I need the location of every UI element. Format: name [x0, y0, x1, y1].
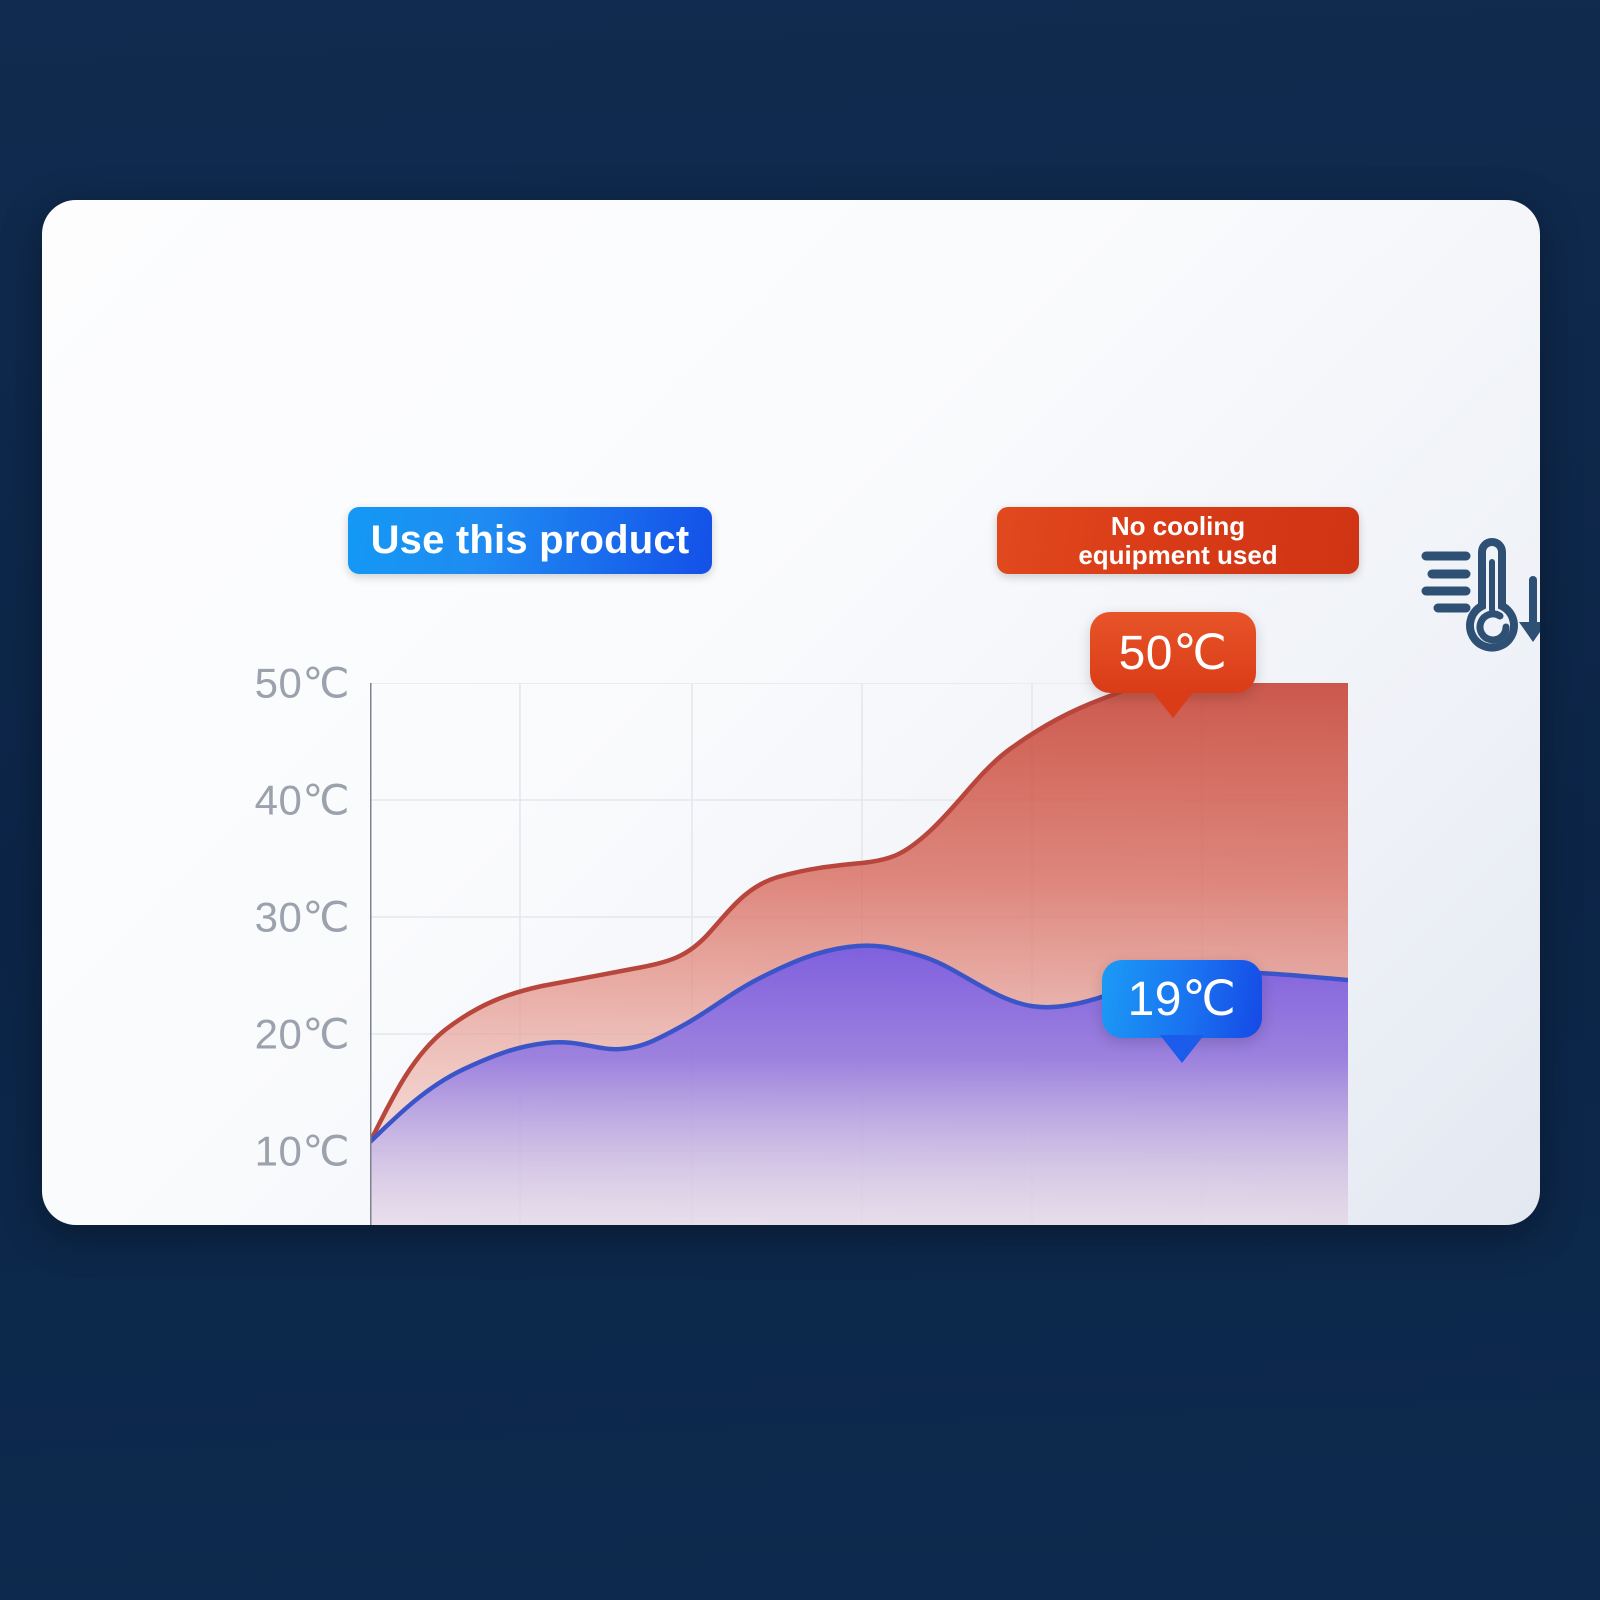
arrow-down-icon [1519, 580, 1540, 642]
screenshot-root: Use this product No cooling equipment us… [0, 0, 1600, 1600]
legend-pill-no-cooling[interactable]: No cooling equipment used [997, 507, 1359, 574]
legend-pill-red-line1: No cooling [1111, 511, 1245, 541]
legend-pill-red-line2: equipment used [1078, 540, 1277, 570]
legend-pill-use-this-product[interactable]: Use this product [348, 507, 712, 574]
callout-max-temperature-no-cooling[interactable]: 50℃ [1090, 612, 1256, 693]
chart-plot-area [370, 683, 1348, 1225]
y-tick-20: 20℃ [200, 1010, 350, 1059]
legend-pill-blue-label: Use this product [371, 519, 690, 562]
legend-pill-red-label: No cooling equipment used [1078, 512, 1277, 568]
chart-card: Use this product No cooling equipment us… [42, 200, 1540, 1225]
callout-red-value: 50℃ [1119, 625, 1228, 681]
thermometer-cooling-icon [1414, 536, 1540, 652]
y-tick-50: 50℃ [200, 659, 350, 708]
y-axis-labels: 50℃ 40℃ 30℃ 20℃ 10℃ [210, 683, 350, 1225]
callout-temperature-use-this-product[interactable]: 19℃ [1102, 960, 1262, 1038]
y-tick-30: 30℃ [200, 893, 350, 942]
callout-blue-value: 19℃ [1128, 971, 1237, 1027]
y-tick-10: 10℃ [200, 1127, 350, 1176]
y-tick-40: 40℃ [200, 776, 350, 825]
